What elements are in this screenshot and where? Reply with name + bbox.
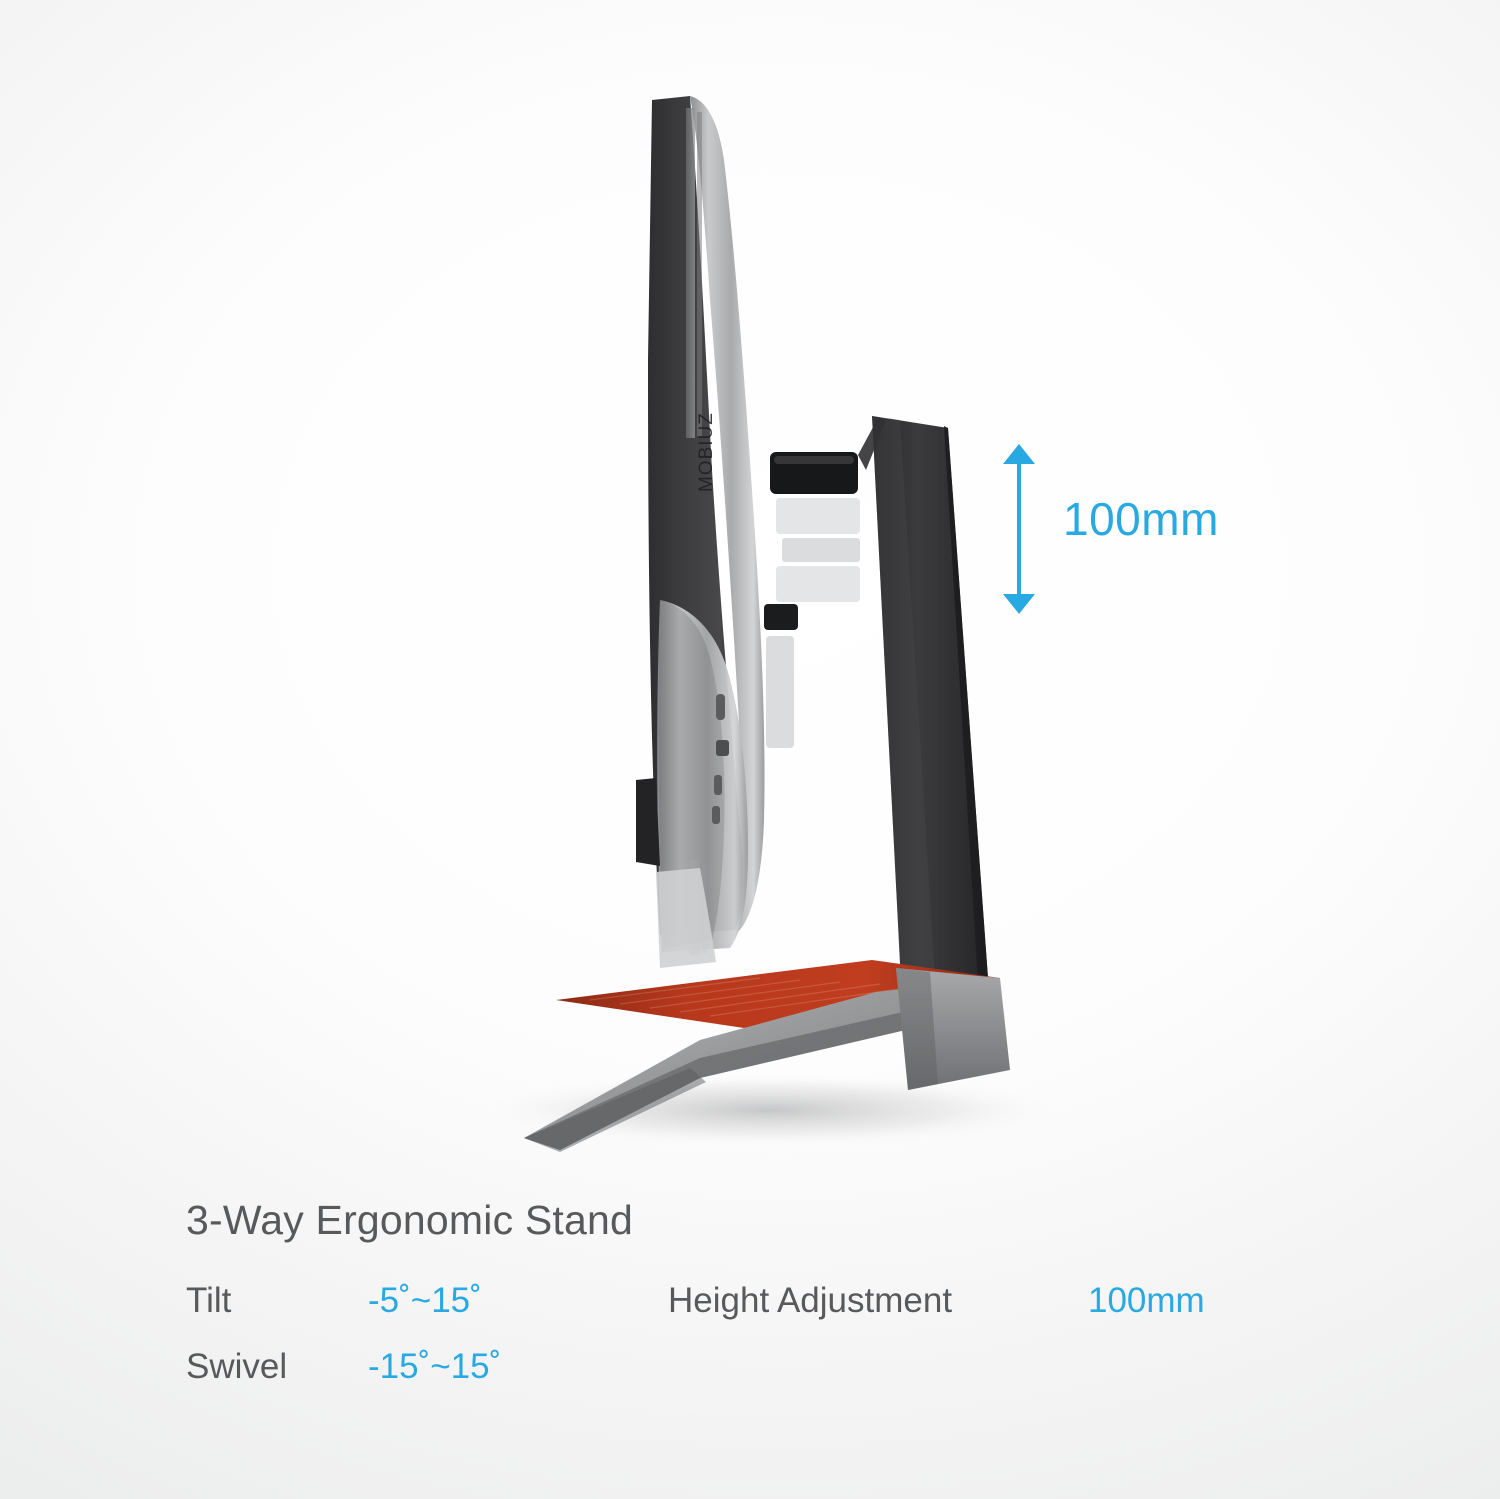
height-slider-gap bbox=[782, 538, 860, 562]
caption-title: 3-Way Ergonomic Stand bbox=[186, 1196, 1386, 1245]
spec-value-swivel: -15˚~15˚ bbox=[368, 1347, 501, 1387]
height-slider-lower bbox=[776, 566, 860, 602]
product-image-scene: MOBIUZ bbox=[0, 0, 1500, 1499]
vesa-arm-shadow bbox=[766, 636, 794, 748]
port-detail-2 bbox=[716, 740, 729, 756]
vesa-mount-top-hl bbox=[774, 456, 854, 464]
spec-value-tilt: -5˚~15˚ bbox=[368, 1281, 668, 1321]
caption-block: 3-Way Ergonomic Stand Tilt -5˚~15˚ Heigh… bbox=[186, 1196, 1386, 1413]
spec-label-tilt: Tilt bbox=[186, 1281, 368, 1321]
spec-row-swivel: Swivel -15˚~15˚ bbox=[186, 1347, 1386, 1387]
monitor-vent-slots bbox=[686, 108, 702, 438]
monitor-rear-tail bbox=[636, 778, 660, 866]
height-slider-upper bbox=[776, 498, 860, 534]
vesa-mount-bottom bbox=[764, 604, 798, 630]
spec-value-height-adjustment: 100mm bbox=[1088, 1281, 1205, 1321]
arrow-down-icon bbox=[1003, 594, 1035, 614]
spec-label-height-adjustment: Height Adjustment bbox=[668, 1281, 1088, 1321]
port-detail-1 bbox=[716, 694, 725, 720]
port-detail-3 bbox=[714, 775, 722, 795]
port-detail-4 bbox=[712, 806, 720, 824]
height-dimension-callout: 100mm bbox=[985, 440, 1305, 620]
spec-row-tilt-height: Tilt -5˚~15˚ Height Adjustment 100mm bbox=[186, 1281, 1386, 1321]
brand-label: MOBIUZ bbox=[696, 412, 717, 492]
spec-label-swivel: Swivel bbox=[186, 1347, 368, 1387]
dimension-line bbox=[1017, 458, 1021, 600]
dimension-value: 100mm bbox=[1063, 492, 1219, 546]
